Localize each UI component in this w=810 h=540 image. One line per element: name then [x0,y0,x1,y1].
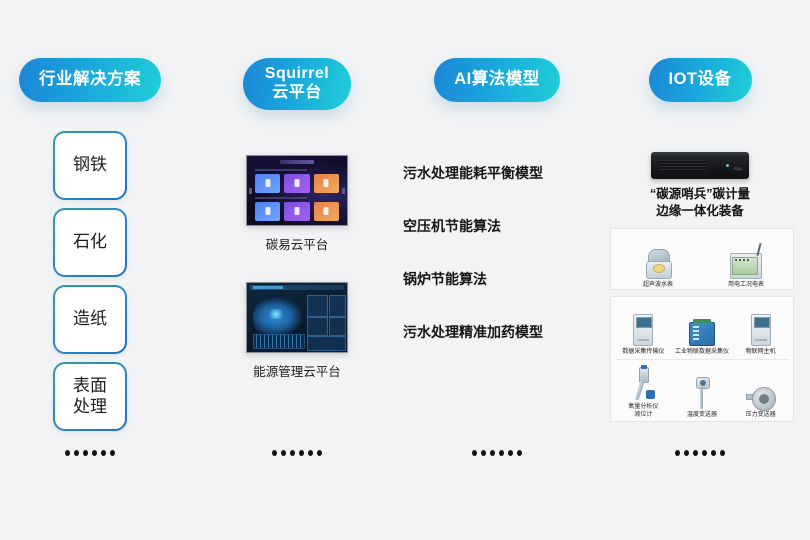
more-dots-ai [397,450,597,456]
device-power-meter[interactable]: 用电工况电表 [717,245,775,290]
column-header-wrap: IOT设备 [600,58,800,102]
column-header-wrap: Squirrel 云平台 [197,58,397,110]
column-iot-devices: IOT设备 SQL “碳源哨兵”碳计量 边缘一体化装备 超声波水表 [600,0,800,540]
column-ai-models: AI算法模型 污水处理能耗平衡模型 空压机节能算法 锅炉节能算法 污水处理精准加… [397,0,597,540]
device-oxygen-analyzer[interactable]: 氧量分析仪 液位计 [614,367,672,419]
cloud-card-energy[interactable]: 能源管理云平台 [197,282,397,380]
device-pressure-transmitter[interactable]: 压力变送器 [732,375,790,420]
carbon-dashboard-mock [247,156,347,225]
pill-iot-devices[interactable]: IOT设备 [649,58,752,102]
diagram-canvas: 行业解决方案 钢铁 石化 造纸 表面 处理 [0,0,810,540]
hero-caption-line2: 边缘一体化装备 [650,203,750,220]
industry-box-label-line1: 表面 [73,376,107,396]
industry-box-label-line2: 处理 [73,397,107,417]
hero-device-block[interactable]: SQL “碳源哨兵”碳计量 边缘一体化装备 [600,152,800,220]
iot-host-icon [751,314,771,346]
device-industrial-gateway[interactable]: 工业物联数据采集仪 [673,312,731,357]
more-dots-industry [0,450,190,456]
device-label-line2: 液位计 [634,412,652,418]
column-header-wrap: 行业解决方案 [0,58,190,102]
ai-model-item[interactable]: 锅炉节能算法 [403,269,599,289]
device-row-instruments: 氧量分析仪 液位计 温度变送器 压力变送器 [611,360,793,422]
industry-box-label-line1: 石化 [73,232,107,252]
pill-label-line2: 云平台 [265,84,329,103]
temperature-transmitter-icon [695,377,709,409]
energy-dashboard-mock [247,283,347,352]
device-row-collectors: 数据采集传输仪 工业物联数据采集仪 物联网主机 [611,297,793,359]
device-label: 温度变送器 [687,412,717,420]
device-label-line1: 氧量分析仪 [628,404,658,410]
device-label: 氧量分析仪 液位计 [628,404,658,419]
device-label: 工业物联数据采集仪 [675,349,729,357]
ai-model-list: 污水处理能耗平衡模型 空压机节能算法 锅炉节能算法 污水处理精准加药模型 [403,163,599,375]
screenshot-carbon-platform [246,155,348,226]
device-water-meter[interactable]: 超声波水表 [629,245,687,290]
industry-box-petrochemical[interactable]: 石化 [53,208,127,277]
column-industry-solutions: 行业解决方案 钢铁 石化 造纸 表面 处理 [0,0,190,540]
device-label: 超声波水表 [643,282,673,290]
oxygen-analyzer-icon [630,367,656,401]
device-label: 用电工况电表 [728,282,764,290]
industry-box-surface-treatment[interactable]: 表面 处理 [53,362,127,431]
ai-model-item[interactable]: 污水处理精准加药模型 [403,322,599,342]
device-label: 压力变送器 [746,412,776,420]
pill-label-line1: AI算法模型 [454,70,540,89]
power-meter-icon [730,253,762,279]
hero-caption-line1: “碳源哨兵”碳计量 [650,186,750,203]
cloud-card-caption: 能源管理云平台 [253,361,341,380]
device-iot-host[interactable]: 物联网主机 [732,312,790,357]
more-dots-iot [600,450,800,456]
data-logger-icon [633,314,653,346]
pill-label-line1: IOT设备 [669,70,732,89]
more-dots-cloud [197,450,397,456]
cloud-card-caption: 碳易云平台 [266,234,329,253]
rack-server-icon: SQL [651,152,749,179]
pill-label-line1: 行业解决方案 [39,70,141,89]
industrial-gateway-icon [689,322,715,346]
hero-device-caption: “碳源哨兵”碳计量 边缘一体化装备 [650,186,750,220]
pill-industry-solutions[interactable]: 行业解决方案 [19,58,161,102]
column-header-wrap: AI算法模型 [397,58,597,102]
industry-box-label-line1: 造纸 [73,309,107,329]
device-group-collectors: 数据采集传输仪 工业物联数据采集仪 物联网主机 [610,296,794,422]
device-label: 物联网主机 [746,349,776,357]
ai-model-item[interactable]: 污水处理能耗平衡模型 [403,163,599,183]
industry-box-papermaking[interactable]: 造纸 [53,285,127,354]
industry-box-steel[interactable]: 钢铁 [53,131,127,200]
pressure-transmitter-icon [746,387,776,409]
pill-label-line1: Squirrel [265,65,329,84]
cloud-card-carbon[interactable]: 碳易云平台 [197,155,397,253]
water-meter-icon [646,249,670,279]
ai-model-item[interactable]: 空压机节能算法 [403,216,599,236]
device-group-meters: 超声波水表 用电工况电表 [610,228,794,290]
pill-ai-algorithm-models[interactable]: AI算法模型 [434,58,560,102]
industry-box-list: 钢铁 石化 造纸 表面 处理 [0,131,190,431]
column-squirrel-cloud: Squirrel 云平台 [197,0,397,540]
device-temperature-transmitter[interactable]: 温度变送器 [673,375,731,420]
device-label: 数据采集传输仪 [622,349,664,357]
pill-squirrel-cloud[interactable]: Squirrel 云平台 [243,58,351,110]
screenshot-energy-platform [246,282,348,353]
industry-box-label-line1: 钢铁 [73,155,107,175]
device-data-logger[interactable]: 数据采集传输仪 [614,312,672,357]
